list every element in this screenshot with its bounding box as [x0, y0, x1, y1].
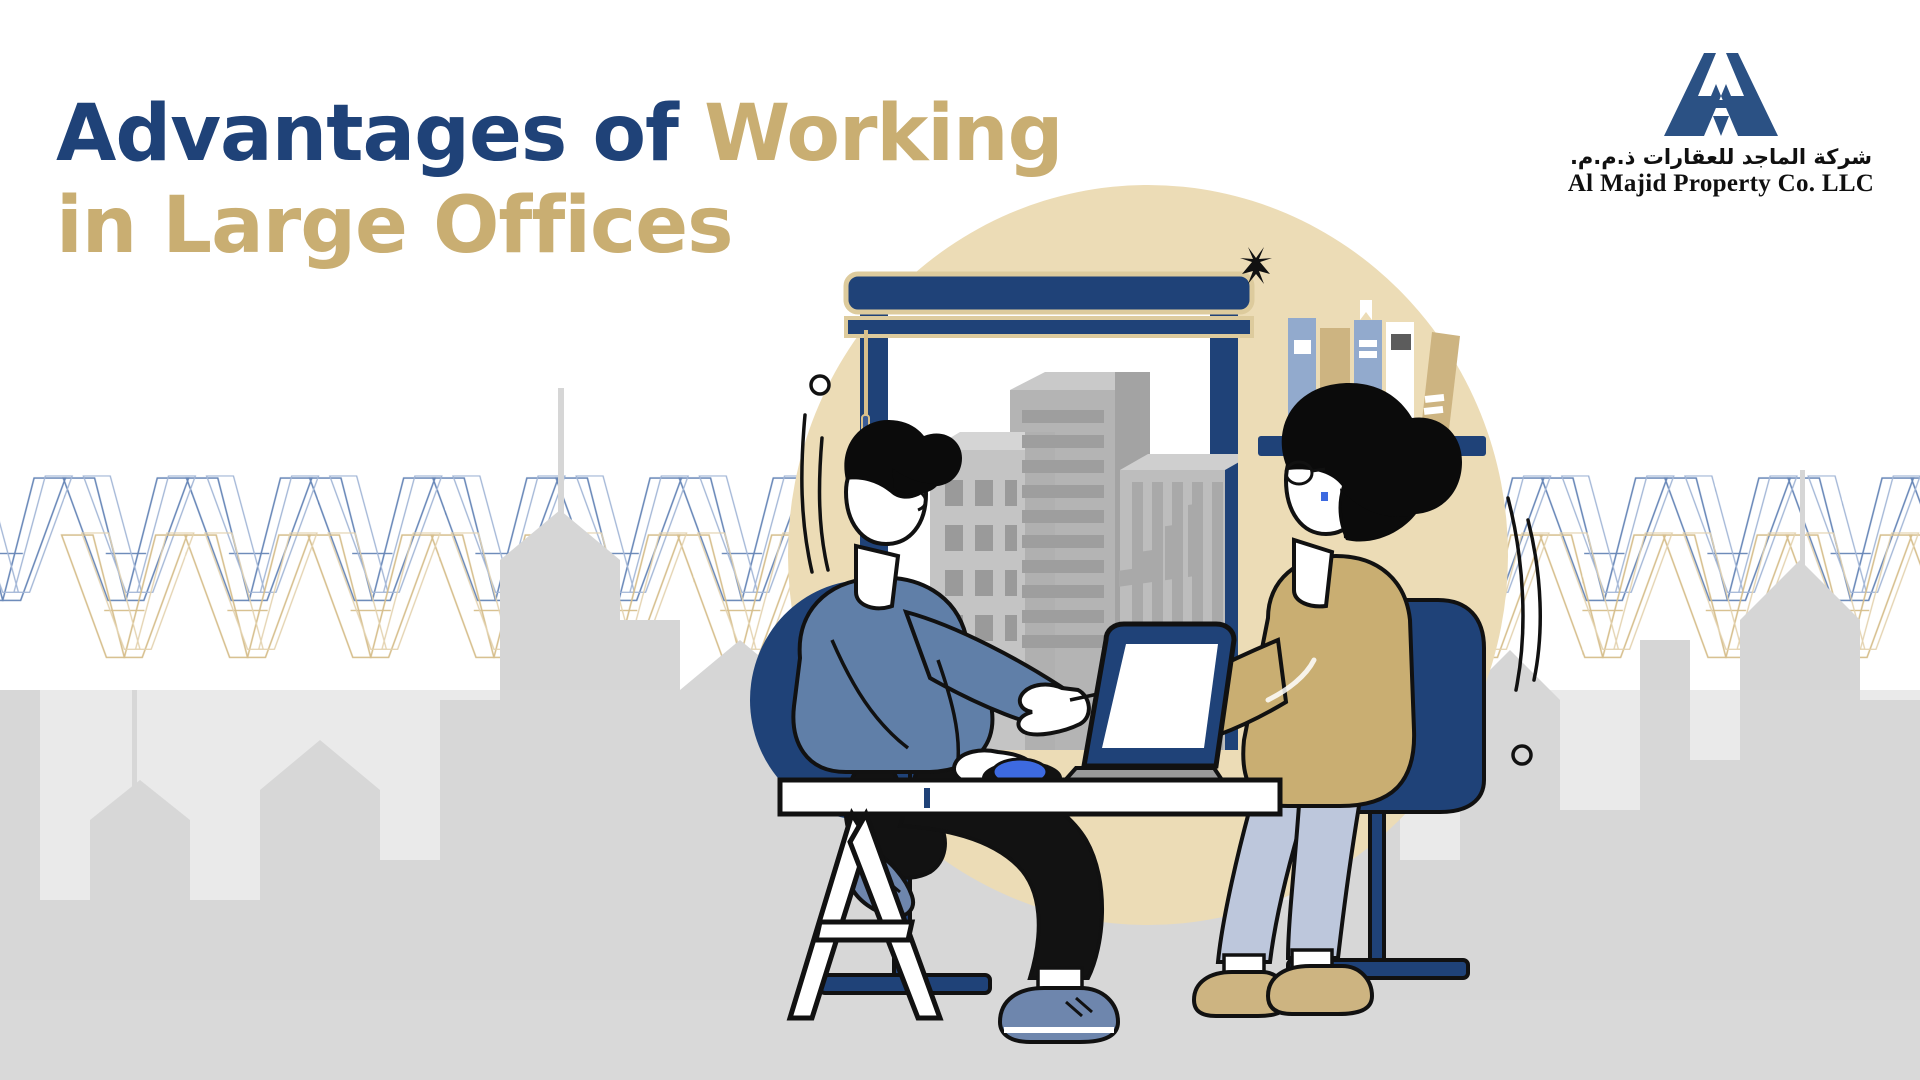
logo-arabic-name: شركة الماجد للعقارات ذ.م.م. [1556, 145, 1886, 169]
company-logo[interactable]: شركة الماجد للعقارات ذ.م.م. Al Majid Pro… [1556, 48, 1886, 198]
page-title: Advantages of Working in Large Offices [56, 88, 1106, 272]
desk-leg-crossbar [816, 922, 912, 940]
banner-canvas: Advantages of Working in Large Offices ش… [0, 0, 1920, 1080]
shoe-woman-right [1268, 966, 1372, 1014]
headline-line1-accent: Working [704, 89, 1062, 179]
shoe-man-front [1000, 988, 1118, 1042]
earring [1321, 492, 1328, 501]
al-majid-a-monogram-icon [1656, 48, 1786, 143]
hand-pointing-man [1018, 685, 1088, 735]
headline-line2: in Large Offices [56, 180, 1106, 272]
headline-line1-primary: Advantages of [56, 89, 704, 179]
logo-english-name: Al Majid Property Co. LLC [1556, 170, 1886, 198]
